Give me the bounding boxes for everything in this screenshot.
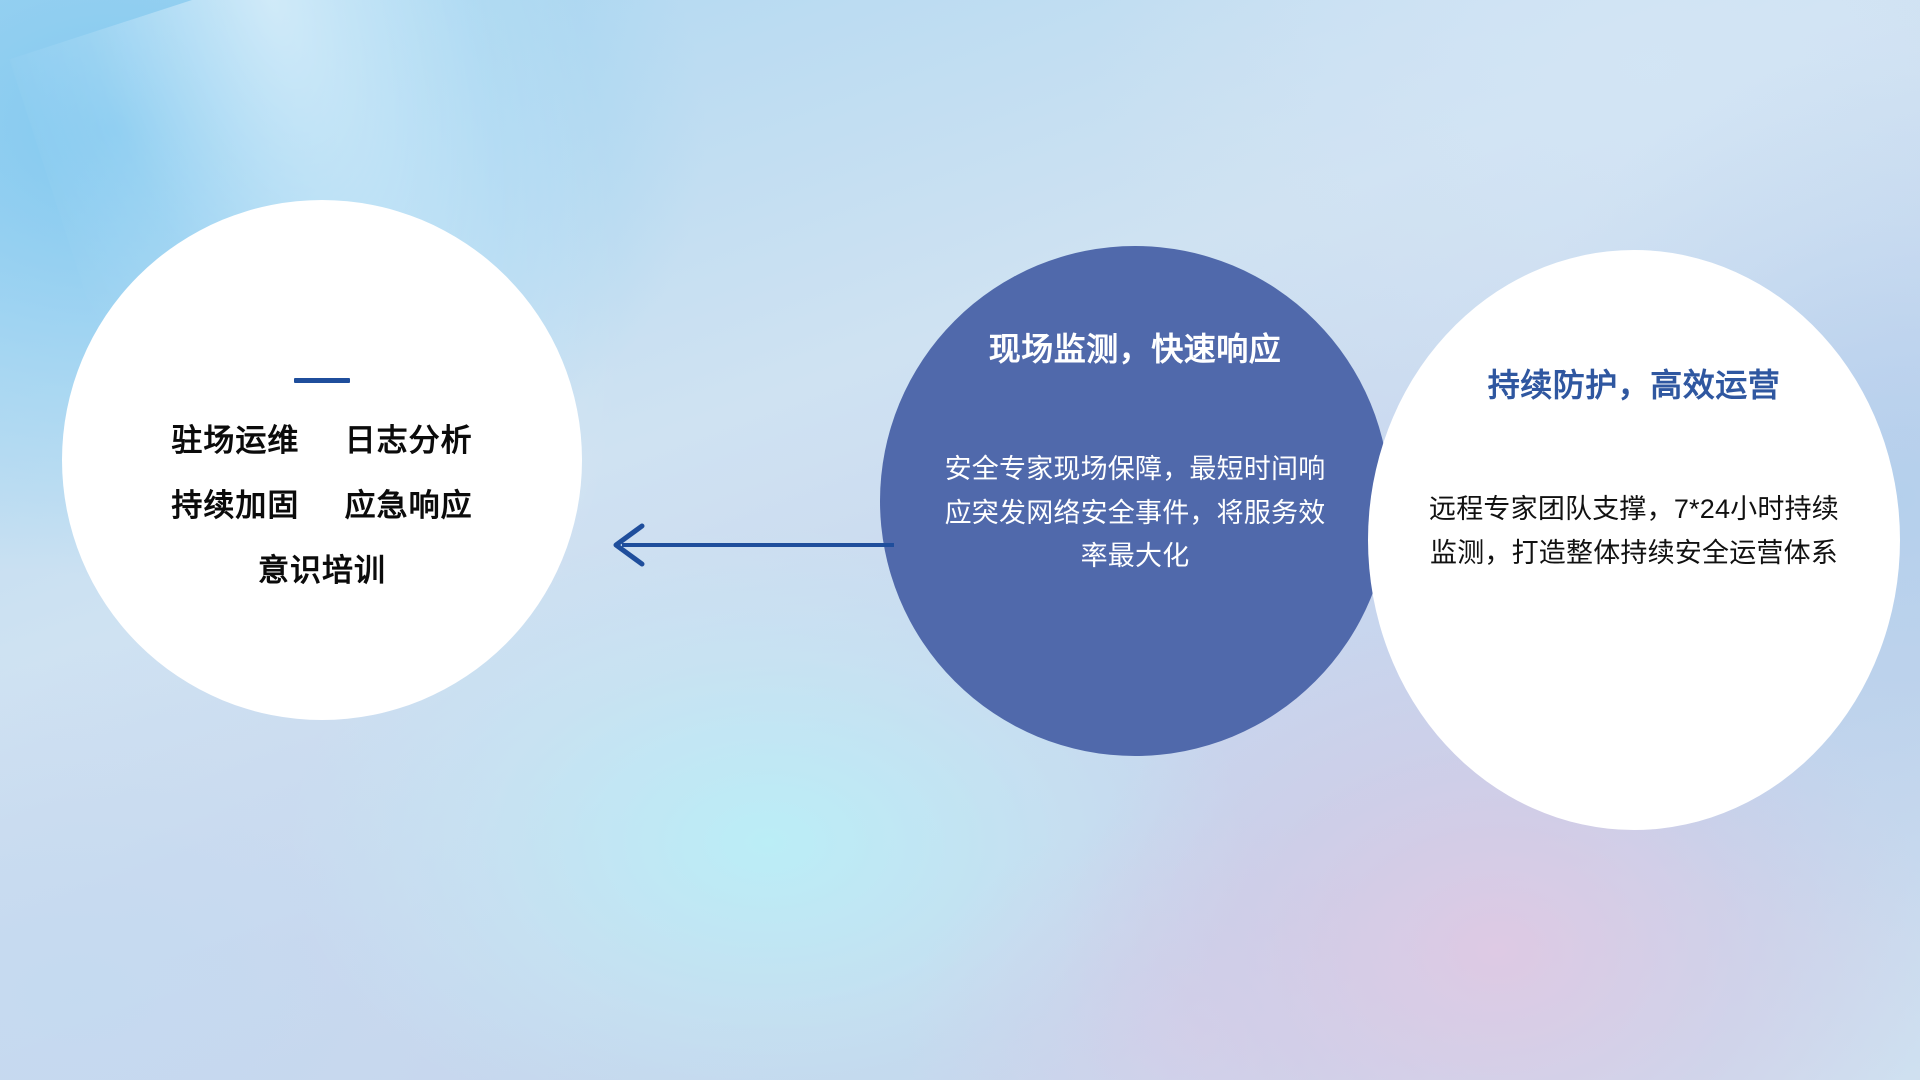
left-pointing-arrow-icon	[596, 520, 896, 570]
service-item-label: 意识培训	[258, 553, 386, 588]
service-row: 持续加固 应急响应	[171, 490, 472, 521]
service-item-label: 应急响应	[345, 488, 473, 523]
left-service-circle[interactable]: 驻场运维 日志分析 持续加固 应急响应 意识培训	[62, 200, 582, 720]
right-circle-title: 持续防护，高效运营	[1488, 360, 1781, 406]
slide-canvas: 驻场运维 日志分析 持续加固 应急响应 意识培训 现场监测，快速响应 安全专家现…	[0, 0, 1920, 1080]
service-item-label: 日志分析	[345, 423, 473, 458]
service-item-label: 持续加固	[171, 488, 299, 523]
blue-divider-line	[294, 378, 350, 383]
middle-feature-circle[interactable]: 现场监测，快速响应 安全专家现场保障，最短时间响应突发网络安全事件，将服务效率最…	[880, 246, 1390, 756]
service-row: 驻场运维 日志分析	[171, 425, 472, 456]
service-item-label: 驻场运维	[171, 423, 299, 458]
middle-circle-body: 安全专家现场保障，最短时间响应突发网络安全事件，将服务效率最大化	[935, 448, 1335, 579]
middle-circle-title: 现场监测，快速响应	[989, 324, 1282, 370]
right-circle-body: 远程专家团队支撑，7*24小时持续监测，打造整体持续安全运营体系	[1419, 488, 1849, 575]
service-row-single: 意识培训	[258, 555, 386, 586]
right-feature-circle[interactable]: 持续防护，高效运营 远程专家团队支撑，7*24小时持续监测，打造整体持续安全运营…	[1368, 250, 1900, 830]
